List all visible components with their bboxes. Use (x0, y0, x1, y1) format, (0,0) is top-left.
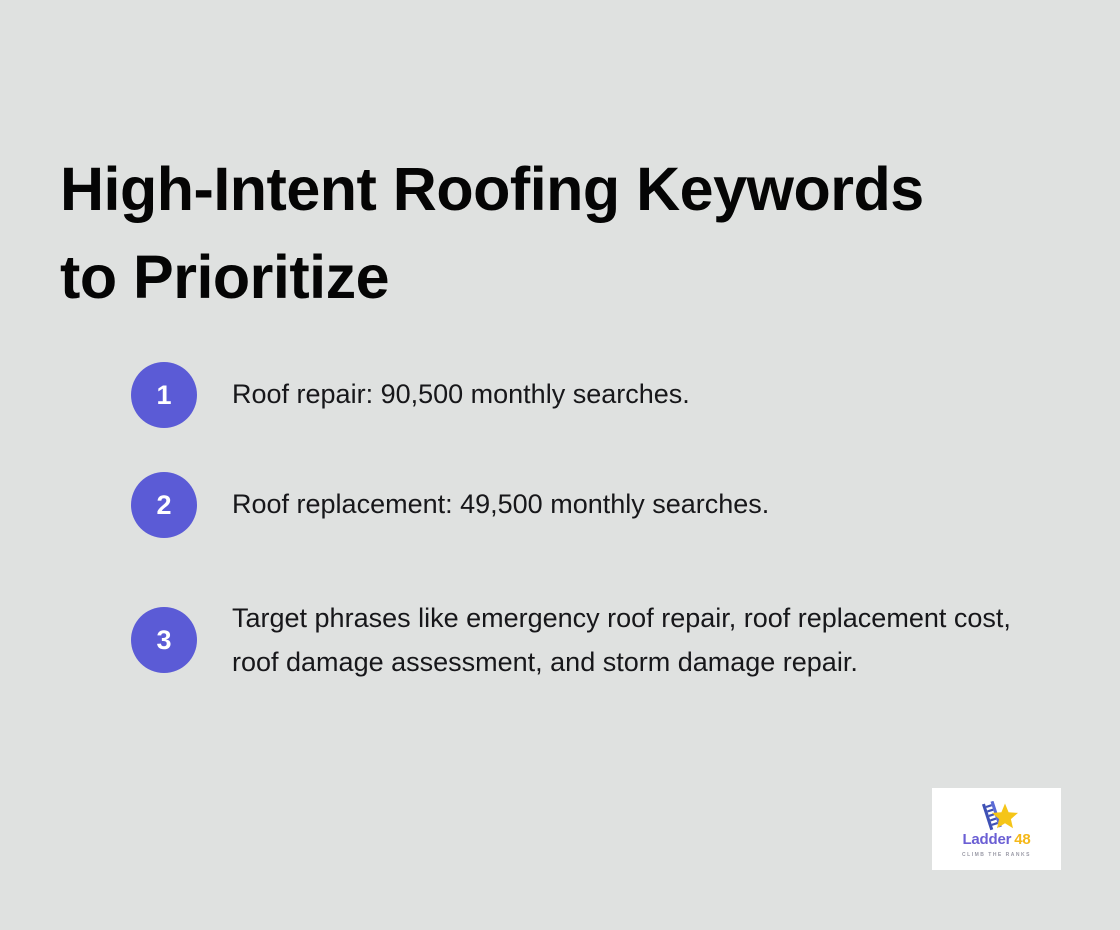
list-item-number-badge: 2 (131, 472, 197, 538)
list-item: 3 Target phrases like emergency roof rep… (131, 596, 1071, 684)
slide-canvas: High-Intent Roofing Keywords to Prioriti… (0, 0, 1120, 930)
list-item-number-badge: 3 (131, 607, 197, 673)
numbered-list: 1 Roof repair: 90,500 monthly searches. … (131, 362, 1071, 684)
brand-tagline: CLIMB THE RANKS (962, 852, 1031, 858)
brand-name-primary: Ladder (962, 831, 1011, 848)
brand-wordmark: Ladder48 (962, 832, 1030, 847)
list-item-number-badge: 1 (131, 362, 197, 428)
list-item: 2 Roof replacement: 49,500 monthly searc… (131, 472, 1071, 538)
list-item-text: Roof replacement: 49,500 monthly searche… (232, 472, 769, 526)
page-title: High-Intent Roofing Keywords to Prioriti… (60, 145, 1040, 321)
list-item-text: Target phrases like emergency roof repai… (232, 596, 1062, 684)
brand-name-secondary: 48 (1014, 831, 1030, 848)
list-item-text: Roof repair: 90,500 monthly searches. (232, 362, 690, 416)
brand-logo-card: Ladder48 CLIMB THE RANKS (932, 788, 1061, 870)
ladder-star-icon (974, 801, 1020, 831)
list-item: 1 Roof repair: 90,500 monthly searches. (131, 362, 1071, 428)
